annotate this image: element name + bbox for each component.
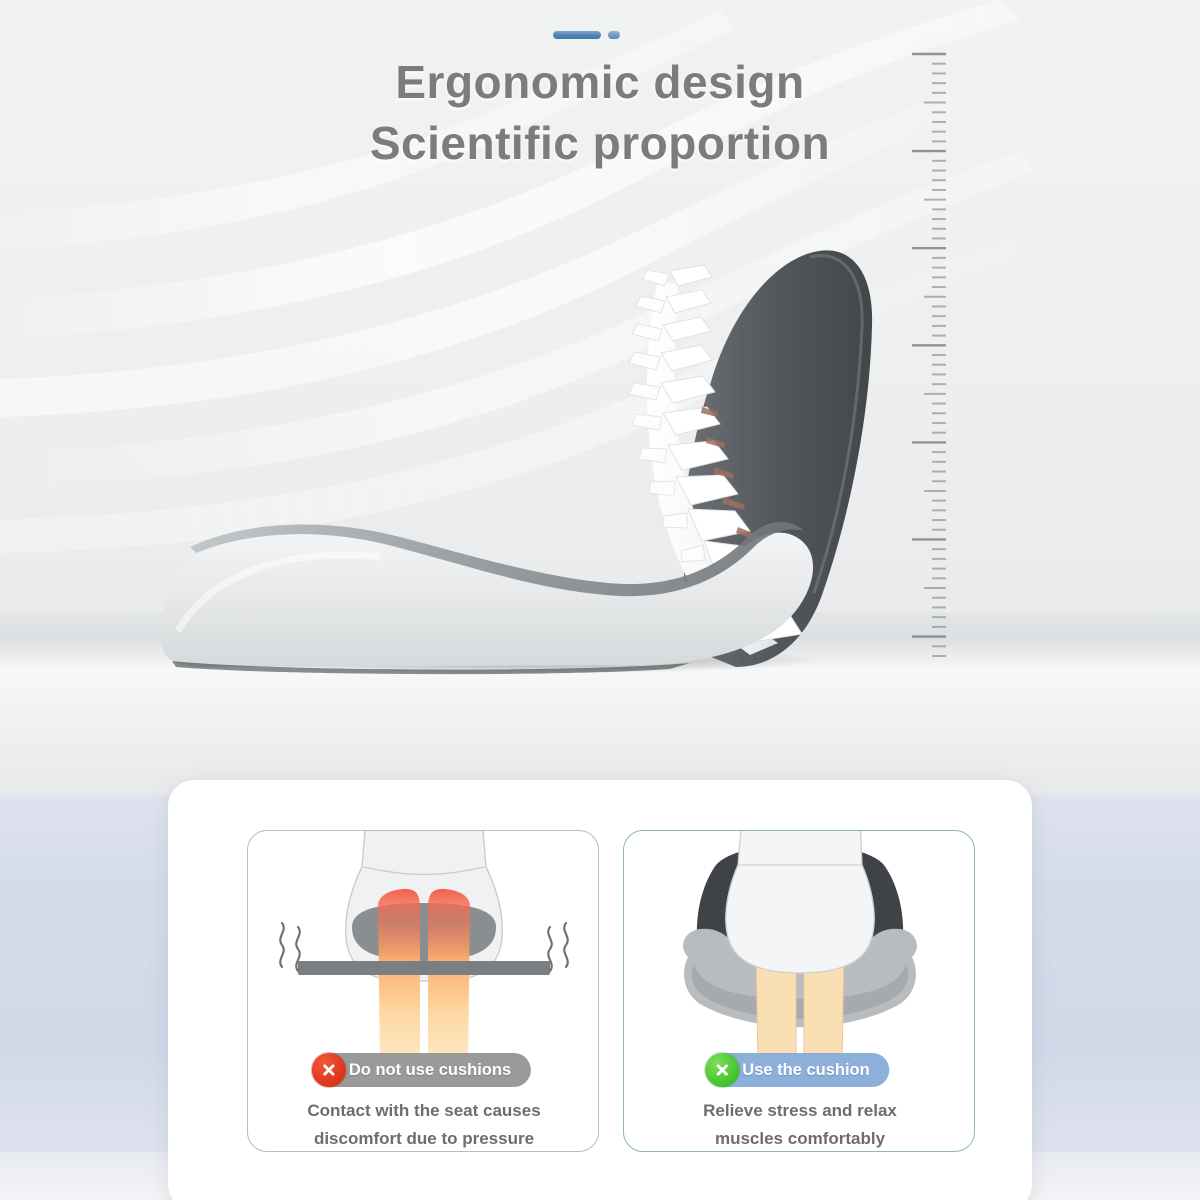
pressure-heat-illustration [248,831,600,1063]
caption-line-1: Relieve stress and relax [624,1097,976,1125]
caption-line-2: muscles comfortably [624,1125,976,1153]
x-circle-icon [705,1053,739,1087]
infographic-stage: Ergonomic design Scientific proportion [0,0,1200,1200]
comparison-cards: Do not use cushions Contact with the sea… [168,780,1032,1200]
badge-label: Do not use cushions [349,1061,511,1080]
accent-dot-icon [608,31,620,39]
status-badge-do-not-use: Do not use cushions [315,1053,531,1087]
badge-label: Use the cushion [742,1061,869,1080]
caption-line-1: Contact with the seat causes [248,1097,600,1125]
card-with-cushion[interactable]: Use the cushion Relieve stress and relax… [623,830,975,1152]
card-without-cushion[interactable]: Do not use cushions Contact with the sea… [247,830,599,1152]
card-caption-with-cushion: Relieve stress and relax muscles comfort… [624,1097,976,1152]
card-caption-without-cushion: Contact with the seat causes discomfort … [248,1097,600,1152]
accent-mark [553,31,620,39]
seat-cushion-illustration [150,175,910,680]
x-circle-icon [312,1053,346,1087]
cushion-support-illustration [624,831,976,1063]
status-badge-use-cushion: Use the cushion [708,1053,889,1087]
accent-bar-icon [553,31,601,39]
caption-line-2: discomfort due to pressure [248,1125,600,1153]
page-title: Ergonomic design Scientific proportion [0,52,1200,173]
comparison-panel: Do not use cushions Contact with the sea… [168,780,1032,1200]
headline-line-1: Ergonomic design [0,52,1200,113]
headline-line-2: Scientific proportion [0,113,1200,174]
